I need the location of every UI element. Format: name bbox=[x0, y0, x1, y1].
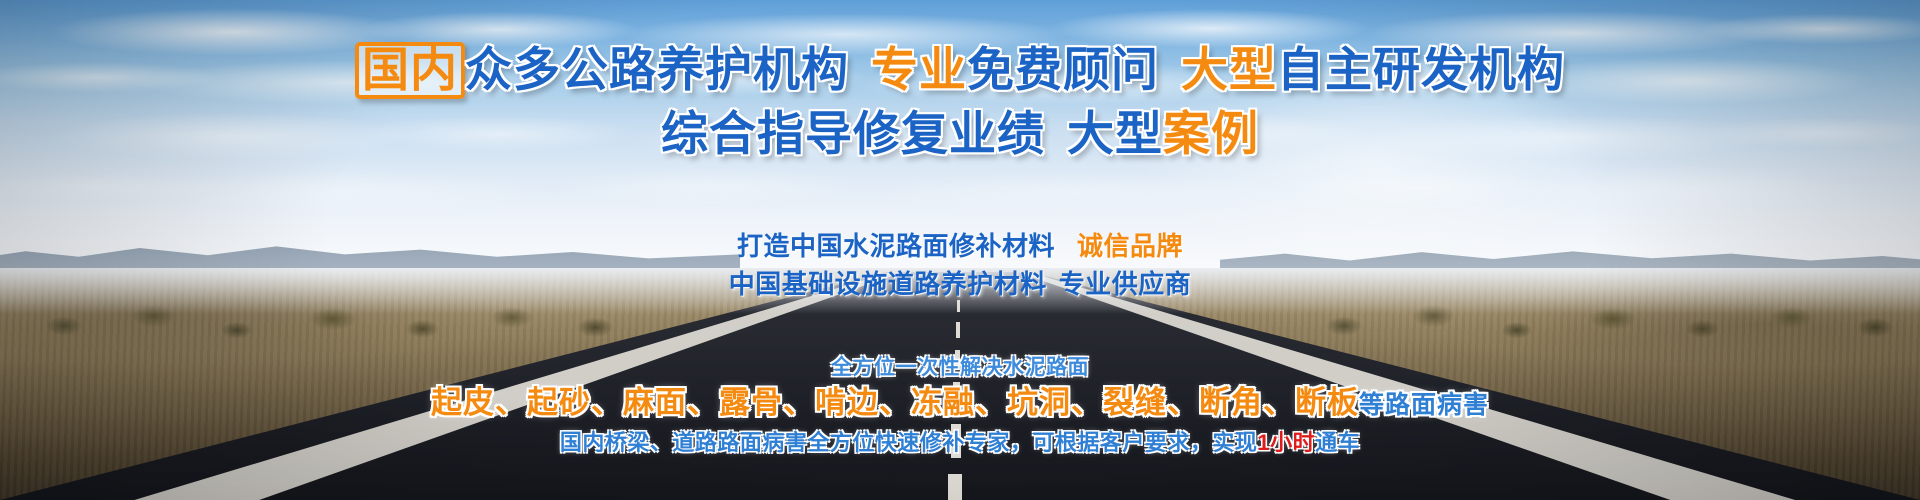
subheadline-line-2: 中国基础设施道路养护材料专业供应商 bbox=[0, 266, 1920, 304]
claim-part-1: 国内桥梁、道路路面病害全方位快速修补专家，可根据客户要求，实现 bbox=[560, 430, 1258, 455]
defects-suffix: 等路面病害 bbox=[1359, 391, 1489, 419]
headline-line-2: 综合指导修复业绩大型案例 bbox=[0, 109, 1920, 160]
claim-highlight-hours: 1小时 bbox=[1257, 430, 1315, 455]
headline-seg-free-consult: 免费顾问 bbox=[967, 43, 1159, 96]
headline-seg-large: 大型 bbox=[1067, 107, 1163, 160]
bottom-defects-line: 起皮、起砂、麻面、露骨、啃边、冻融、坑洞、裂缝、断角、断板等路面病害 bbox=[0, 383, 1920, 423]
subheadline-line-1: 打造中国水泥路面修补材料诚信品牌 bbox=[0, 228, 1920, 266]
cloud-layer-4 bbox=[0, 160, 1920, 220]
bottom-block: 全方位一次性解决水泥路面 起皮、起砂、麻面、露骨、啃边、冻融、坑洞、裂缝、断角、… bbox=[0, 355, 1920, 457]
bottom-claim-line: 国内桥梁、道路路面病害全方位快速修补专家，可根据客户要求，实现1小时通车 bbox=[0, 429, 1920, 458]
sub-seg-infrastructure-material: 中国基础设施道路养护材料 bbox=[729, 269, 1047, 299]
claim-part-2: 通车 bbox=[1315, 430, 1360, 455]
sub-seg-trusted-brand: 诚信品牌 bbox=[1077, 231, 1183, 261]
headline-seg-guidance: 综合指导修复业绩 bbox=[661, 107, 1045, 160]
headline-badge-domestic: 国内 bbox=[355, 42, 465, 99]
sub-seg-supplier: 专业供应商 bbox=[1059, 269, 1192, 299]
lane-dash-6 bbox=[948, 474, 962, 500]
headline-seg-professional: 专业 bbox=[871, 43, 967, 96]
headline-seg-agencies: 众多公路养护机构 bbox=[465, 43, 849, 96]
bottom-lead-line: 全方位一次性解决水泥路面 bbox=[0, 355, 1920, 381]
headline-seg-rnd-org: 自主研发机构 bbox=[1277, 43, 1565, 96]
lane-dash-2 bbox=[956, 322, 960, 338]
headline-seg-cases: 案例 bbox=[1163, 107, 1259, 160]
defects-list: 起皮、起砂、麻面、露骨、啃边、冻融、坑洞、裂缝、断角、断板 bbox=[431, 385, 1359, 420]
headline-line-1: 国内众多公路养护机构专业免费顾问大型自主研发机构 bbox=[0, 42, 1920, 99]
headline-seg-large-scale: 大型 bbox=[1181, 43, 1277, 96]
sub-seg-repair-material: 打造中国水泥路面修补材料 bbox=[737, 231, 1055, 261]
hero-banner: 国内众多公路养护机构专业免费顾问大型自主研发机构 综合指导修复业绩大型案例 打造… bbox=[0, 0, 1920, 500]
headline-block: 国内众多公路养护机构专业免费顾问大型自主研发机构 综合指导修复业绩大型案例 bbox=[0, 42, 1920, 160]
subheadline-block: 打造中国水泥路面修补材料诚信品牌 中国基础设施道路养护材料专业供应商 bbox=[0, 228, 1920, 303]
